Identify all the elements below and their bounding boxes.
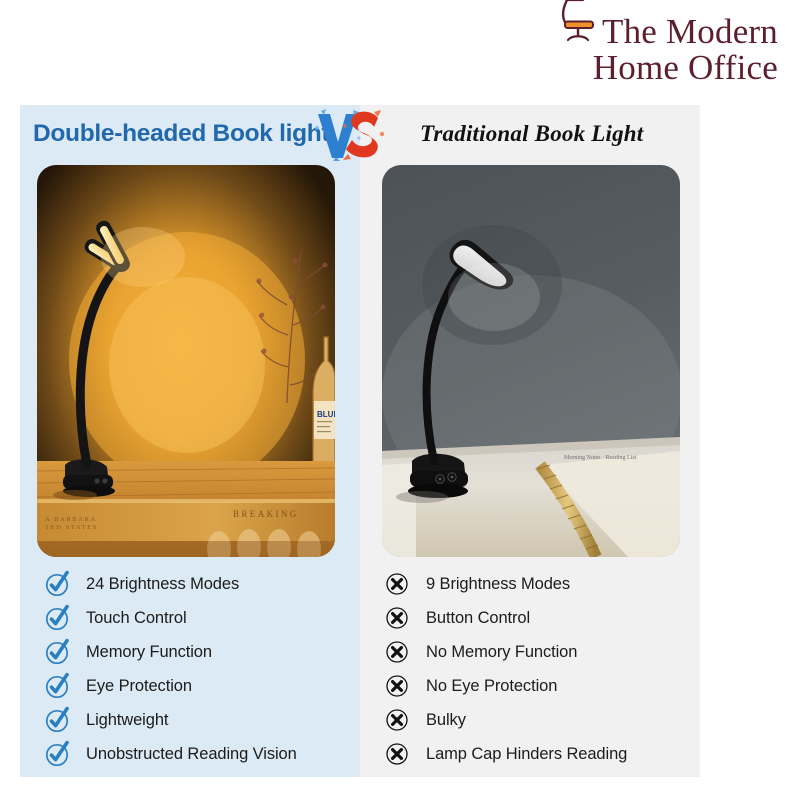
brand-line-1: The Modern [593, 14, 778, 50]
list-item-label: Eye Protection [86, 677, 192, 696]
brand-line-1-text: The Modern [602, 12, 778, 51]
list-item: Button Control [384, 601, 700, 635]
check-circle-icon [44, 707, 70, 733]
check-circle-icon [44, 673, 70, 699]
svg-text:TED STATES: TED STATES [45, 524, 98, 531]
traditional-book-light-photo: Morning Notes · Reading List [382, 165, 680, 557]
left-heading-text: Double-headed Book light [33, 120, 329, 148]
list-item-label: 24 Brightness Modes [86, 575, 239, 594]
right-feature-list: 9 Brightness Modes Button Control [360, 567, 700, 771]
list-item-label: Bulky [426, 711, 466, 730]
svg-text:BLUE M: BLUE M [317, 410, 335, 419]
list-item: No Memory Function [384, 635, 700, 669]
comparison-panel: Double-headed Book light [20, 105, 700, 777]
cross-circle-icon [384, 571, 410, 597]
brand-logo: The Modern Home Office [593, 14, 778, 85]
cross-circle-icon [384, 741, 410, 767]
list-item-label: No Eye Protection [426, 677, 557, 696]
list-item-label: 9 Brightness Modes [426, 575, 570, 594]
comparison-column-left: Double-headed Book light [20, 105, 360, 777]
list-item: Lamp Cap Hinders Reading [384, 737, 700, 771]
check-circle-icon [44, 639, 70, 665]
svg-text:A BARBARA: A BARBARA [45, 516, 97, 523]
list-item-label: Touch Control [86, 609, 187, 628]
right-heading: Traditional Book Light [360, 105, 700, 163]
right-heading-text: Traditional Book Light [420, 121, 643, 147]
left-heading: Double-headed Book light [20, 105, 360, 163]
left-feature-list: 24 Brightness Modes Touch Control [20, 567, 360, 771]
list-item-label: Lightweight [86, 711, 168, 730]
list-item-label: Memory Function [86, 643, 212, 662]
list-item: Touch Control [44, 601, 360, 635]
list-item: Lightweight [44, 703, 360, 737]
list-item: No Eye Protection [384, 669, 700, 703]
office-chair-icon [553, 0, 605, 42]
list-item: Unobstructed Reading Vision [44, 737, 360, 771]
list-item-label: Unobstructed Reading Vision [86, 745, 297, 764]
cross-circle-icon [384, 707, 410, 733]
list-item-label: No Memory Function [426, 643, 577, 662]
list-item: Eye Protection [44, 669, 360, 703]
list-item: 24 Brightness Modes [44, 567, 360, 601]
list-item: Bulky [384, 703, 700, 737]
comparison-column-right: Traditional Book Light [360, 105, 700, 777]
list-item: 9 Brightness Modes [384, 567, 700, 601]
check-circle-icon [44, 741, 70, 767]
svg-text:BREAKING: BREAKING [233, 509, 299, 519]
cross-circle-icon [384, 673, 410, 699]
list-item: Memory Function [44, 635, 360, 669]
double-headed-book-light-photo: BLUE M BREAKING A BARBARA TED STATES [37, 165, 335, 557]
list-item-label: Lamp Cap Hinders Reading [426, 745, 627, 764]
list-item-label: Button Control [426, 609, 530, 628]
cross-circle-icon [384, 639, 410, 665]
check-circle-icon [44, 605, 70, 631]
check-circle-icon [44, 571, 70, 597]
brand-line-2: Home Office [593, 50, 778, 86]
cross-circle-icon [384, 605, 410, 631]
svg-text:Morning Notes · Reading List: Morning Notes · Reading List [564, 455, 637, 461]
